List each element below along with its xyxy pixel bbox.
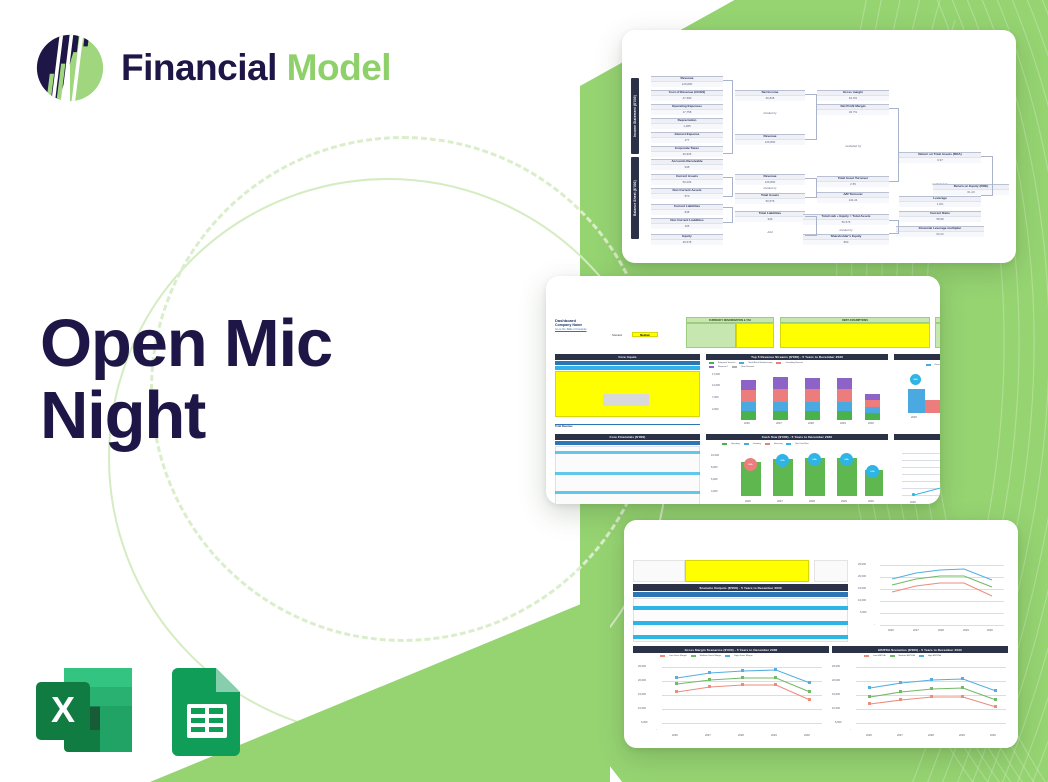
currency-labels — [686, 323, 736, 348]
chart-profitability: 34% 35% 36% 35% 34% 2026 2027 2028 2029 … — [898, 370, 940, 420]
legend-revenue-streams: Enterprise Services Small Batch Manufact… — [709, 362, 803, 364]
operator-add: Add — [735, 230, 805, 234]
legend-cash-flow: Operating Investing Financing Net Cash F… — [722, 443, 809, 445]
debt-assumptions-table[interactable] — [780, 323, 930, 348]
chart-gross-margin-scenarios: 25,000 20,000 15,000 10,000 5,000 - 2026… — [636, 662, 826, 740]
brand-logo: Financial Model — [34, 32, 391, 104]
node-opex: Operating Expenses 17,758 — [651, 104, 723, 115]
scenario-input-labels — [633, 560, 685, 582]
core-inputs-blank-cells — [603, 394, 649, 406]
section-scenario-outputs: Scenario Outputs ($'000) - 5 Years to De… — [633, 584, 848, 591]
node-current-liabilities: Current Liabilities 848 — [651, 204, 723, 215]
connector-roa — [889, 108, 899, 182]
node-net-profit-margin: Net Profit Margin 36.7% — [817, 104, 889, 115]
connector-flm — [889, 220, 899, 234]
dashboard-toc-link[interactable]: Go to the Table of Contents — [555, 328, 587, 331]
brand-word-mo: Mo — [287, 47, 339, 88]
section-top5-revenue: Top 5 Revenue Streams ($'000) - 5 Years … — [706, 354, 888, 360]
section-core-financials: Core Financials ($'000) — [555, 434, 700, 440]
scenario-input-values[interactable] — [685, 560, 809, 582]
operator-divided-by-1: divided by — [735, 111, 805, 115]
node-revenue-3: Revenue 126,800 — [735, 174, 805, 185]
node-equity: Equity 49,678 — [651, 234, 723, 245]
section-cash-flow: Cash flow ($'000) - 5 Years to December … — [706, 434, 888, 440]
node-current-ratio: Current Ratio 58.98 — [899, 211, 981, 222]
excel-icon-letter: X — [51, 689, 75, 730]
spine-income-statement: Income Statement ($'000) — [631, 78, 639, 154]
wc-labels — [935, 323, 940, 348]
connector-assets — [723, 177, 733, 197]
app-icon-row: X — [32, 662, 246, 758]
connector-roe — [981, 156, 993, 196]
core-financials-body[interactable] — [555, 446, 700, 504]
node-revenue: Revenue 126,800 — [651, 76, 723, 87]
spine-balance-sheet: Balance Sheet ($'000) — [631, 157, 639, 239]
scenario-dropdown[interactable]: Medium — [632, 332, 658, 337]
node-depreciation: Depreciation 1,285 — [651, 118, 723, 129]
currency-values[interactable] — [736, 323, 774, 348]
section-investment-payback: Investment Payback Chart ($'000) - 5 Yea… — [894, 434, 940, 440]
google-sheets-icon[interactable] — [170, 662, 246, 758]
section-ebitda-scenarios: EBITDA Scenarios ($'000) - 5 Years to De… — [832, 646, 1008, 653]
slide-canvas: Financial Model Open Mic Night X — [0, 0, 1048, 782]
section-profitability: Profitability ($'000) - 5 Years to Decem… — [894, 354, 940, 360]
financial-model-circle-logo — [34, 32, 106, 104]
node-total-asset-turnover: Total Asset Turnover 2.55 — [817, 176, 889, 187]
scenario-analysis-screenshot[interactable]: Scenario Outputs ($'000) - 5 Years to De… — [624, 520, 1018, 748]
node-total-assets: Total Assets 50,576 — [735, 193, 805, 204]
connector-equity — [805, 216, 817, 236]
section-core-inputs: Core Inputs — [555, 354, 700, 360]
headline-line-2: Night — [40, 380, 470, 452]
node-leverage: Leverage 1.9% — [899, 196, 981, 207]
node-total-liabilities: Total Liabilities 949 — [735, 211, 805, 222]
node-cogs: Cost of Revenue (COGS) 47,680 — [651, 90, 723, 101]
node-interest-expense: Interest Expense 177 — [651, 132, 723, 143]
scenario-sheet: Scenario Outputs ($'000) - 5 Years to De… — [624, 520, 1018, 748]
node-ar-turnover: A/R Turnover 144.24 — [817, 192, 889, 203]
brand-word-financial: Financial — [121, 47, 287, 88]
headline-line-1: Open Mic — [40, 308, 470, 380]
node-non-current-liabilities: Non Current Liabilities 105 — [651, 218, 723, 229]
microsoft-excel-icon[interactable]: X — [32, 662, 138, 758]
core-financials-header — [555, 441, 700, 445]
connector-margin — [805, 94, 817, 140]
node-gross-margin: Gross margin 62.0% — [817, 90, 889, 101]
core-inputs-header — [555, 361, 700, 365]
connector-is — [723, 80, 733, 154]
total-revenue-row: Total Revenue — [555, 424, 700, 428]
dupont-analysis-screenshot[interactable]: Income Statement ($'000) Balance Sheet (… — [622, 30, 1016, 263]
chart-ebitda-scenarios: 25,000 20,000 15,000 10,000 5,000 - 2026… — [830, 662, 1010, 740]
node-roe: Return on Equity (ROE) 61.23 — [933, 184, 1009, 195]
chart-investment-payback: 70,000 60,000 50,000 40,000 30,000 20,00… — [902, 450, 940, 504]
chart-top5-revenue: 17,000 12,000 7,000 2,000 — [713, 372, 885, 420]
chart-scenario-overview: 25,000 20,000 15,000 10,000 5,000 - 2026… — [856, 560, 1008, 636]
operator-divided-by-2: divided by — [735, 186, 805, 190]
page-title: Open Mic Night — [40, 308, 470, 453]
node-current-assets: Current Assets 50,006 — [651, 174, 723, 185]
operator-multiplied-by-1: multiplied by — [817, 144, 889, 148]
chart-cash-flow: 10,000 8,000 6,000 4,000 8.0k 9.2k 9.5k … — [713, 450, 885, 504]
brand-word-del: del — [339, 47, 391, 88]
node-financial-leverage-multiplier: Financial Leverage multiplier 63.22 — [896, 226, 984, 237]
scenario-active-values — [814, 560, 848, 582]
scenario-table-header — [633, 592, 848, 597]
brand-wordmark: Financial Model — [121, 47, 391, 89]
node-net-income: Net Income 46,828 — [735, 90, 805, 101]
dashboard-sheet: Dashboard Company Name Go to the Table o… — [546, 276, 940, 504]
financial-dashboard-screenshot[interactable]: Dashboard Company Name Go to the Table o… — [546, 276, 940, 504]
node-non-current-assets: Non Current Assets 570 — [651, 188, 723, 199]
connector-turnover — [805, 178, 817, 198]
dupont-diagram: Income Statement ($'000) Balance Sheet (… — [631, 64, 1010, 247]
legend-gross-margin: Low Gross Margin Medium Gross Margin Hig… — [660, 655, 753, 657]
node-corporate-taxes: Corporate Taxes 20,926 — [651, 146, 723, 157]
node-roa: Return on Total Assets (ROA) 0.97 — [899, 152, 981, 163]
connector-liab — [723, 207, 733, 223]
node-revenue-2: Revenue 126,800 — [735, 134, 805, 145]
legend-profitability: Revenue EBITDA EBITDA % — [926, 363, 940, 367]
legend-revenue-streams-2: Revenue 4 Other Revenue — [709, 366, 754, 368]
core-inputs-subheader — [555, 366, 700, 370]
legend-ebitda: Low EBITDA Medium EBITDA High EBITDA — [864, 655, 941, 657]
node-accounts-receivable: Accounts Receivable 948 — [651, 159, 723, 170]
scenario-label: Scenario — [612, 334, 622, 337]
section-gross-margin-scenarios: Gross Margin Scenarios ($'000) - 5 Years… — [633, 646, 829, 653]
dashboard-company-name: Company Name — [555, 323, 582, 327]
